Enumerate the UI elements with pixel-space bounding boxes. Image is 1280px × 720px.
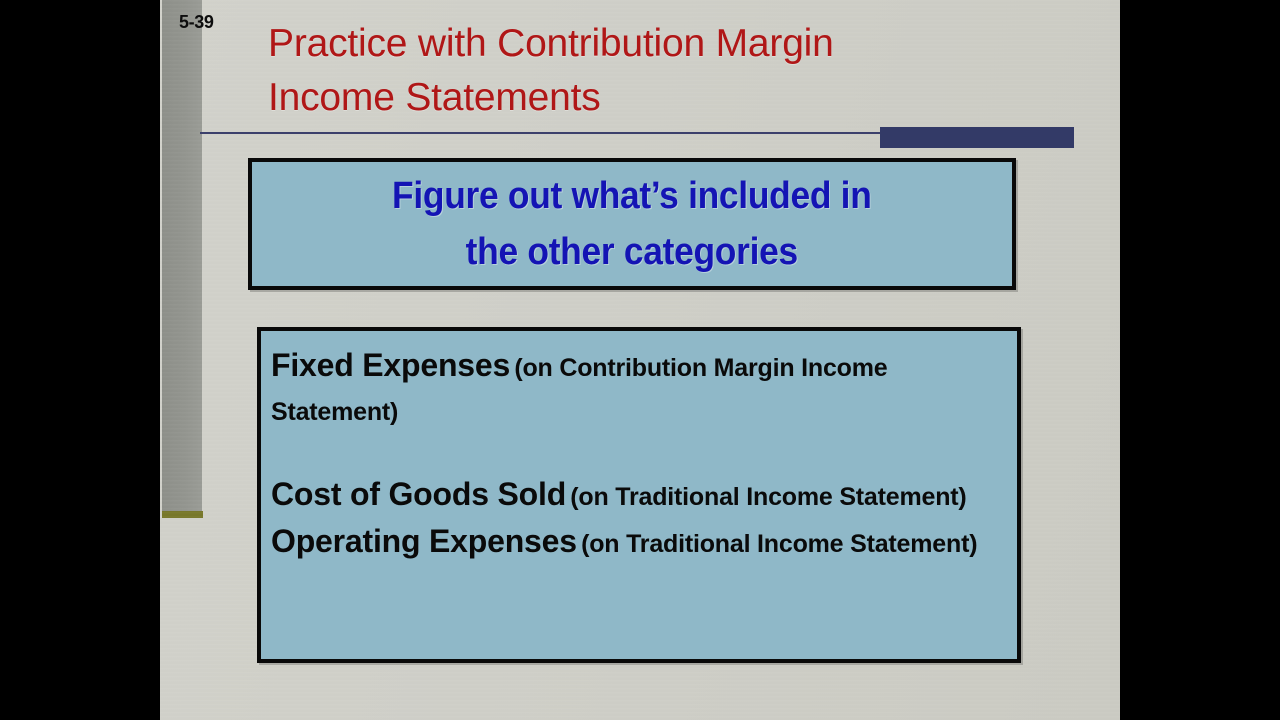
category-qualifier: (on Traditional Income Statement) xyxy=(581,530,977,558)
title-divider-rule xyxy=(200,132,882,134)
prompt-line-1: Figure out what’s included in xyxy=(392,168,871,224)
category-term: Operating Expenses xyxy=(271,523,577,559)
category-qualifier: (on Traditional Income Statement) xyxy=(570,483,966,511)
title-accent-block xyxy=(880,127,1074,148)
list-item: Cost of Goods Sold (on Traditional Incom… xyxy=(271,474,1001,521)
list-item: Operating Expenses (on Traditional Incom… xyxy=(271,521,1001,568)
left-decorative-band xyxy=(162,0,202,515)
category-term: Cost of Goods Sold xyxy=(271,476,566,512)
page-title: Practice with Contribution Margin Income… xyxy=(268,17,1058,125)
prompt-callout-text: Figure out what’s included in the other … xyxy=(392,168,871,280)
presentation-slide: 5-39 Practice with Contribution Margin I… xyxy=(160,0,1120,720)
categories-list: Fixed Expenses (on Contribution Margin I… xyxy=(271,345,1001,568)
page-title-line-1: Practice with Contribution Margin xyxy=(268,17,1058,71)
left-band-accent-bar xyxy=(162,511,203,518)
prompt-callout-box: Figure out what’s included in the other … xyxy=(248,158,1016,290)
category-term: Fixed Expenses xyxy=(271,347,510,383)
prompt-line-2: the other categories xyxy=(392,224,871,280)
page-number: 5-39 xyxy=(179,12,213,33)
page-title-line-2: Income Statements xyxy=(268,71,1058,125)
list-item: Fixed Expenses (on Contribution Margin I… xyxy=(271,345,1001,436)
categories-callout-box: Fixed Expenses (on Contribution Margin I… xyxy=(257,327,1021,663)
screen: 5-39 Practice with Contribution Margin I… xyxy=(0,0,1280,720)
